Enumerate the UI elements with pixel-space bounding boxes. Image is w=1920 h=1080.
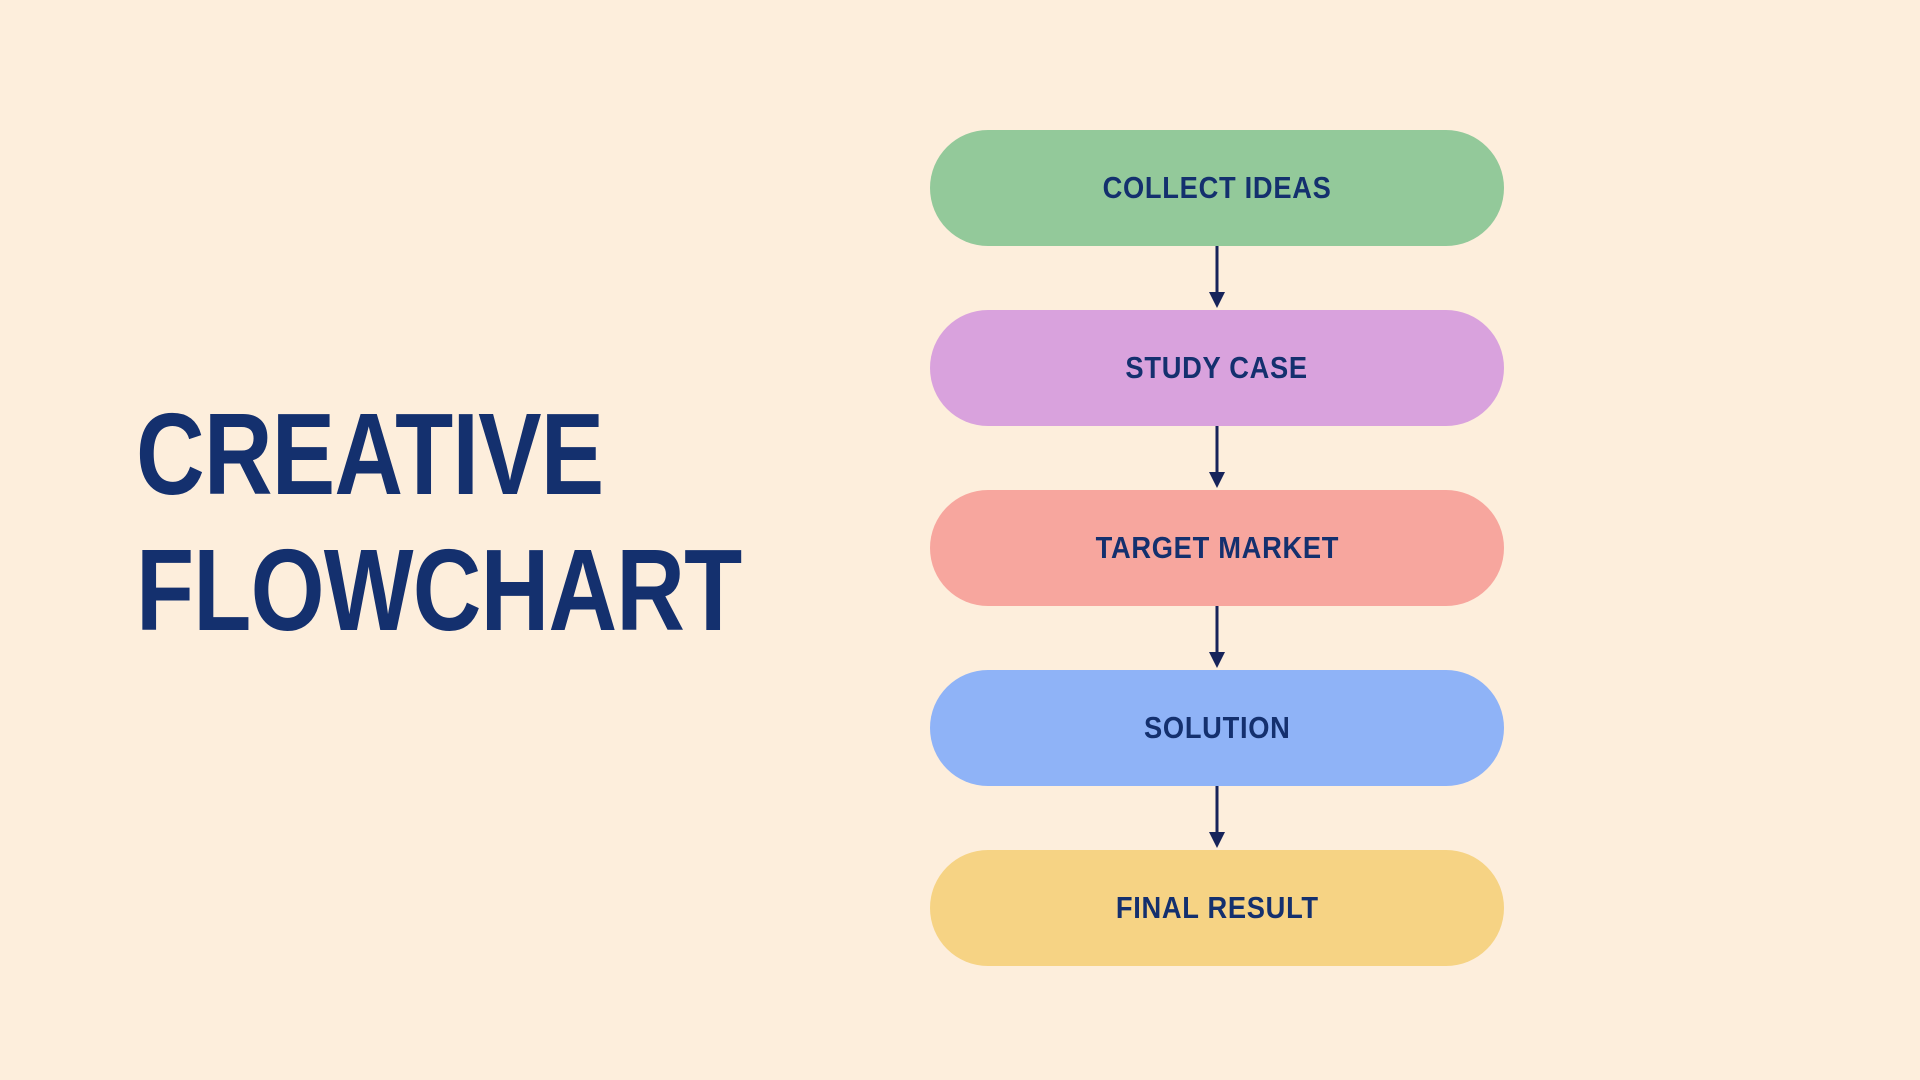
flow-node-label: FINAL RESULT <box>1116 890 1319 926</box>
flow-node-label: STUDY CASE <box>1126 350 1308 386</box>
flowchart-canvas: CREATIVE FLOWCHART COLLECT IDEASSTUDY CA… <box>0 0 1920 1080</box>
page-title-line-1: CREATIVE <box>136 398 661 512</box>
page-title: CREATIVE FLOWCHART <box>136 398 776 647</box>
flow-node-collect-ideas[interactable]: COLLECT IDEAS <box>930 130 1504 246</box>
flow-node-solution[interactable]: SOLUTION <box>930 670 1504 786</box>
arrow-down-icon <box>1205 606 1229 670</box>
flow-node-target-market[interactable]: TARGET MARKET <box>930 490 1504 606</box>
arrow-down-icon <box>1205 426 1229 490</box>
flow-node-study-case[interactable]: STUDY CASE <box>930 310 1504 426</box>
flow-node-label: COLLECT IDEAS <box>1103 170 1332 206</box>
flow-node-label: TARGET MARKET <box>1095 530 1339 566</box>
flowchart-node-column: COLLECT IDEASSTUDY CASETARGET MARKETSOLU… <box>930 130 1504 966</box>
flow-node-label: SOLUTION <box>1144 710 1291 746</box>
page-title-line-2: FLOWCHART <box>136 534 661 648</box>
flow-node-final-result[interactable]: FINAL RESULT <box>930 850 1504 966</box>
arrow-down-icon <box>1205 786 1229 850</box>
arrow-down-icon <box>1205 246 1229 310</box>
